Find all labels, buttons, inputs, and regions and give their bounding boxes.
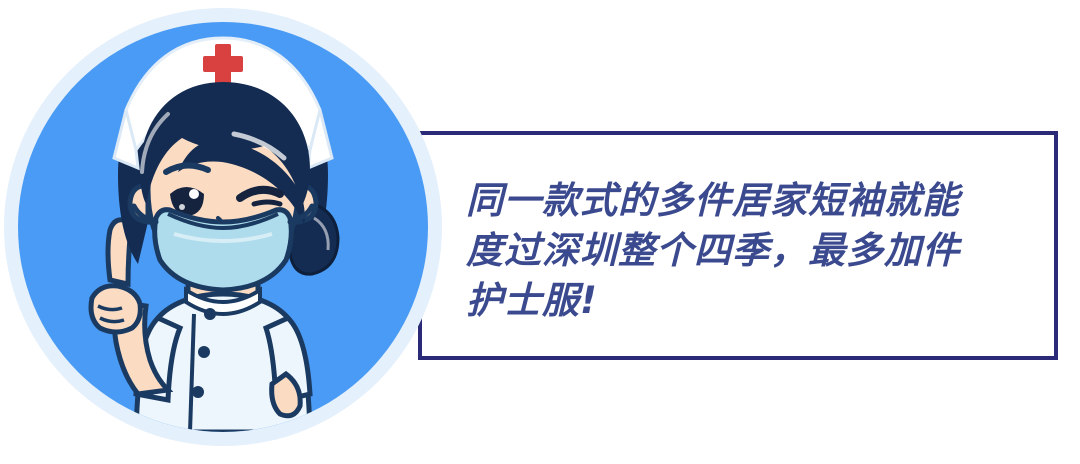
surgical-mask — [155, 210, 292, 290]
left-eye-highlight — [189, 189, 199, 199]
uniform-button — [192, 386, 204, 398]
nurse-illustration-icon — [18, 22, 428, 432]
quote-text: 同一款式的多件居家短袖就能 度过深圳整个四季，最多加件 护士服! — [466, 176, 1036, 326]
avatar-blue-disc — [18, 22, 428, 432]
promo-banner: 同一款式的多件居家短袖就能 度过深圳整个四季，最多加件 护士服! — [0, 0, 1080, 464]
uniform-button — [204, 308, 216, 320]
nurse-avatar-badge — [4, 8, 442, 446]
right-eye-wink-lash — [254, 202, 280, 204]
left-eye-highlight-small — [179, 204, 185, 210]
uniform-button — [198, 346, 210, 358]
